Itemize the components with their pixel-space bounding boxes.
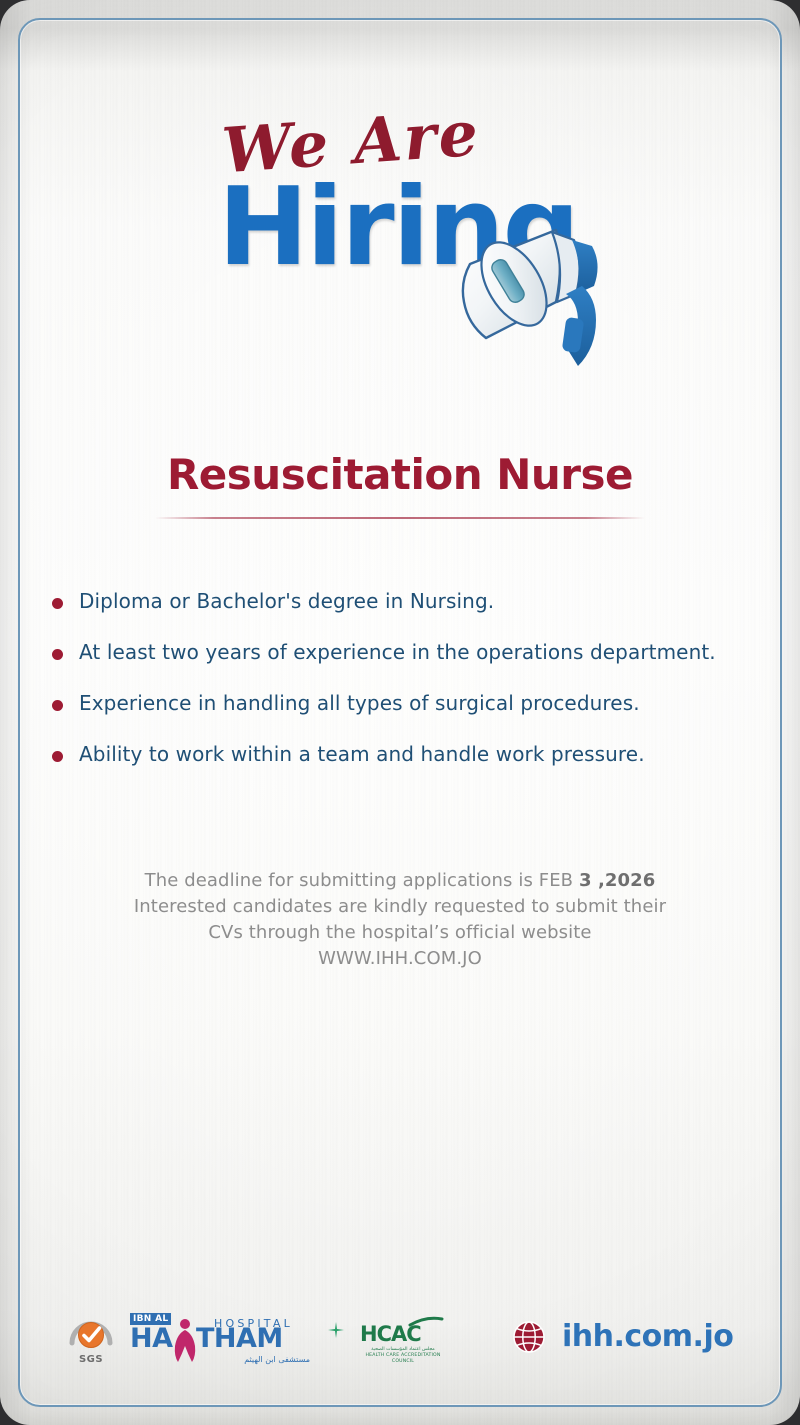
globe-icon: [512, 1320, 546, 1354]
requirement-text: Experience in handling all types of surg…: [79, 690, 640, 717]
requirement-text: Diploma or Bachelor's degree in Nursing.: [79, 588, 494, 615]
list-item: Diploma or Bachelor's degree in Nursing.: [52, 588, 772, 615]
instructions-line-1: Interested candidates are kindly request…: [0, 894, 800, 920]
deadline-line: The deadline for submitting applications…: [0, 868, 800, 894]
deadline-prefix: The deadline for submitting applications…: [145, 870, 579, 891]
job-title-section: Resuscitation Nurse: [0, 450, 800, 519]
requirement-text: Ability to work within a team and handle…: [79, 741, 645, 768]
website-footer[interactable]: ihh.com.jo: [512, 1319, 733, 1354]
hospital-arabic-name: مستشفى ابن الهيثم: [170, 1355, 310, 1364]
sgs-label: SGS: [66, 1354, 116, 1365]
requirements-list: Diploma or Bachelor's degree in Nursing.…: [52, 588, 772, 792]
deadline-instructions-block: The deadline for submitting applications…: [0, 868, 800, 972]
website-url-line: WWW.IHH.COM.JO: [0, 946, 800, 972]
haytham-right: THAM: [196, 1323, 283, 1354]
footer-accreditation-logos: SGS IBN AL HOSPITAL HA THA: [66, 1311, 446, 1367]
megaphone-icon: [452, 198, 602, 388]
hcac-label: HCAC: [360, 1324, 421, 1345]
list-item: Experience in handling all types of surg…: [52, 690, 772, 717]
bullet-dot-icon: [52, 649, 63, 660]
requirement-text: At least two years of experience in the …: [79, 639, 716, 666]
hcac-accreditation-logo: HCAC مجلس اعتماد المؤسسات الصحية HEALTH …: [360, 1316, 446, 1362]
hcac-subtitle-english: HEALTH CARE ACCREDITATION COUNCIL: [360, 1353, 446, 1365]
title-divider: [155, 517, 645, 519]
bullet-dot-icon: [52, 751, 63, 762]
list-item: Ability to work within a team and handle…: [52, 741, 772, 768]
haytham-left: HA: [130, 1323, 173, 1354]
website-url[interactable]: ihh.com.jo: [562, 1319, 733, 1354]
job-title: Resuscitation Nurse: [0, 450, 800, 499]
instructions-line-2: CVs through the hospital’s official webs…: [0, 920, 800, 946]
bullet-dot-icon: [52, 598, 63, 609]
deadline-date: 3 ,2026: [579, 870, 655, 891]
job-posting-poster: We Are Hiring: [0, 0, 800, 1425]
sgs-mark-icon: [66, 1313, 116, 1355]
bullet-dot-icon: [52, 700, 63, 711]
hero-banner: We Are Hiring: [0, 96, 800, 306]
star-separator-icon: [328, 1322, 344, 1338]
footer-logos: SGS IBN AL HOSPITAL HA THA: [0, 1307, 800, 1377]
list-item: At least two years of experience in the …: [52, 639, 772, 666]
sgs-certification-logo: SGS: [66, 1313, 116, 1365]
ibn-al-haytham-hospital-logo: IBN AL HOSPITAL HA THAM مستشفى ابن الهيث…: [130, 1311, 312, 1367]
